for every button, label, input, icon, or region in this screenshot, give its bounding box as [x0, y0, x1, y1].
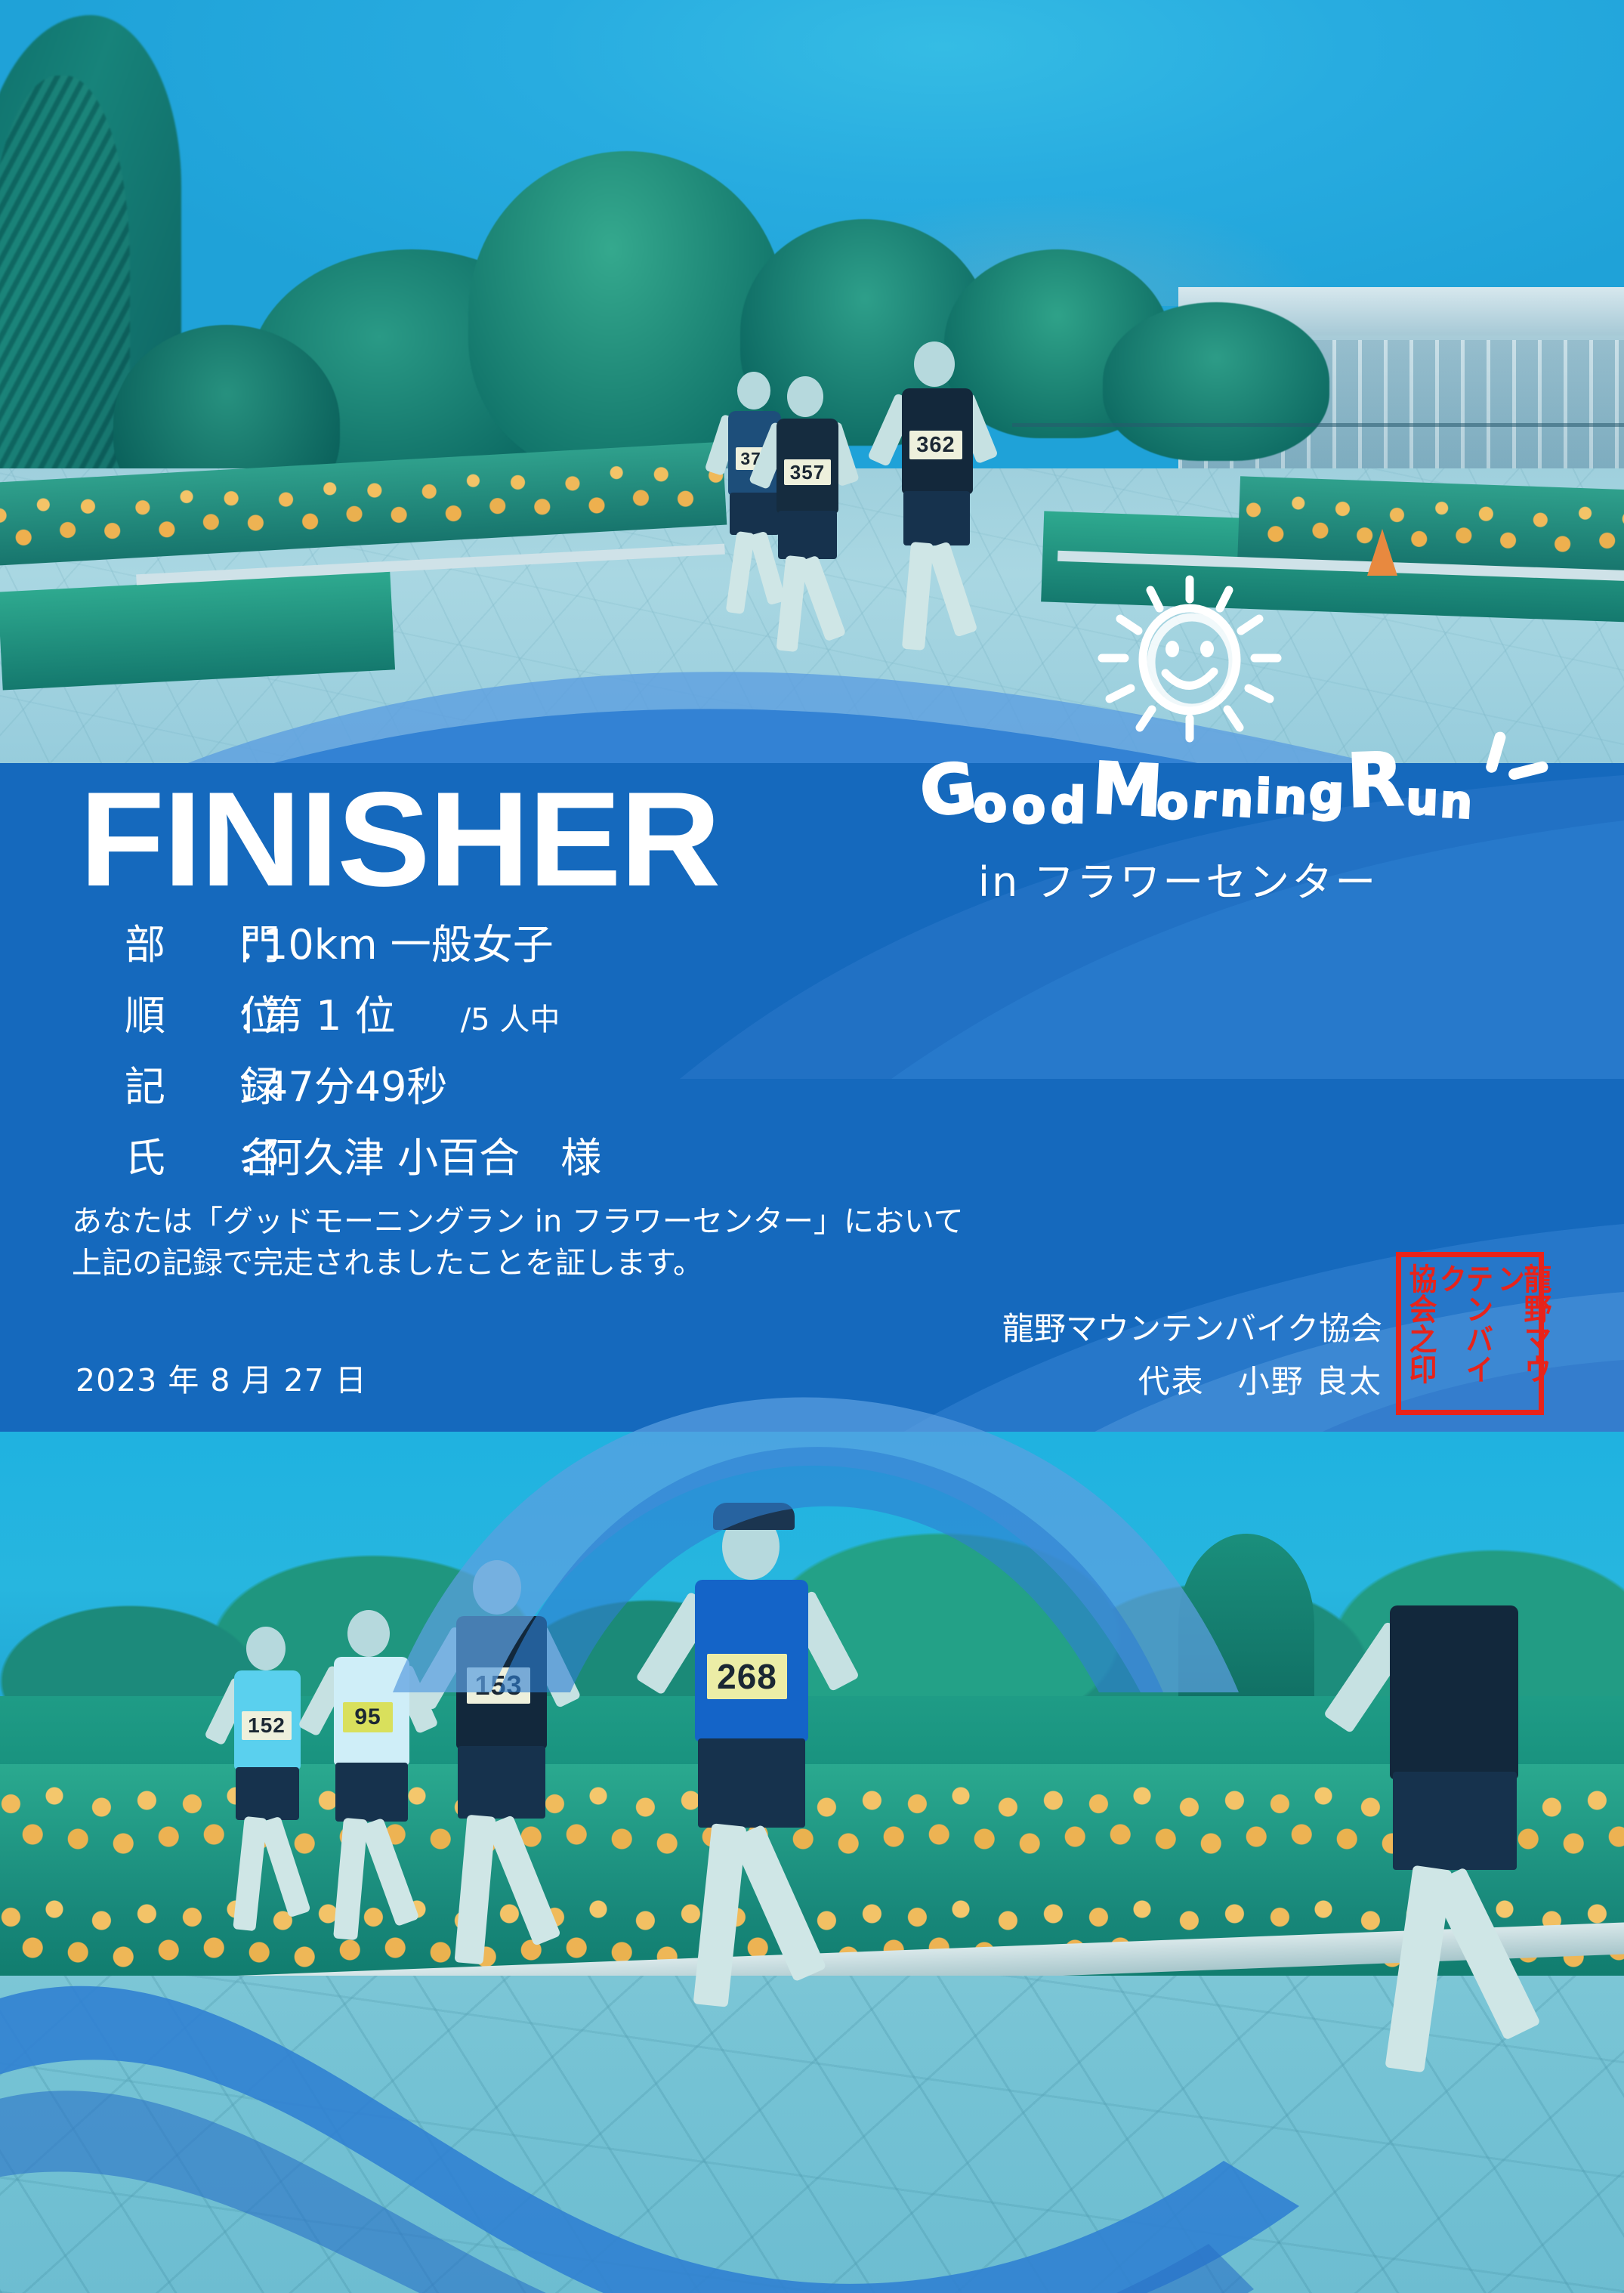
logo-subtitle-venue: フラワーセンター — [1033, 858, 1378, 906]
seal-column-3: 協会之印 — [1406, 1263, 1434, 1404]
detail-label: 記 録 — [125, 1067, 236, 1108]
detail-colon: ： — [236, 1138, 262, 1179]
detail-participant-count: /5 人中 — [461, 1003, 560, 1037]
fence-rail — [1012, 423, 1624, 427]
bib-number: 152 — [242, 1711, 292, 1740]
bib-number: 153 — [467, 1667, 530, 1704]
svg-text:n: n — [1273, 769, 1309, 825]
grass-strip — [0, 571, 395, 690]
tree — [1103, 302, 1329, 461]
detail-value: 阿久津 小百合 様 — [262, 1134, 601, 1182]
event-logo: G o o d M o r n i n g R u n — [827, 563, 1582, 895]
logo-subtitle: inフラワーセンター — [978, 848, 1378, 908]
detail-value: 47分49秒 — [262, 1063, 447, 1111]
certificate-page: 378 357 362 — [0, 0, 1624, 2293]
detail-value: 第 1 位 — [262, 992, 396, 1040]
seal-char: テンバイク — [1437, 1263, 1490, 1404]
svg-text:r: r — [1190, 774, 1218, 830]
detail-label: 氏 名 — [125, 1138, 236, 1179]
seal-column-2: テンバイク — [1434, 1263, 1493, 1404]
seal-column-1: 龍野マウン — [1493, 1263, 1551, 1404]
seal-char: 協会之印 — [1407, 1263, 1434, 1384]
detail-colon: ： — [236, 1067, 262, 1108]
page-title: FINISHER — [79, 772, 719, 907]
detail-row-rank: 順 位：第 1 位/5 人中 — [125, 996, 560, 1037]
logo-subtitle-in: in — [978, 858, 1020, 906]
detail-colon: ： — [236, 925, 262, 966]
official-seal: 龍野マウン テンバイク 協会之印 — [1396, 1252, 1544, 1415]
bib-number: 362 — [909, 431, 962, 459]
bib-number: 357 — [784, 459, 831, 485]
svg-text:d: d — [1050, 777, 1086, 833]
plaza-pavement — [0, 1976, 1624, 2293]
detail-label: 部 門 — [125, 925, 236, 966]
svg-text:g: g — [1308, 764, 1345, 823]
cap — [713, 1503, 795, 1530]
svg-text:u: u — [1405, 773, 1439, 826]
svg-text:o: o — [1156, 775, 1190, 830]
bottom-photo: 152 95 153 — [0, 1432, 1624, 2293]
issuer-organization: 龍野マウンテンバイク協会 — [959, 1303, 1382, 1349]
seal-char: 龍野マウン — [1495, 1263, 1548, 1404]
detail-row-name: 氏 名：阿久津 小百合 様 — [125, 1138, 601, 1179]
detail-label: 順 位 — [125, 996, 236, 1037]
svg-text:R: R — [1345, 737, 1405, 824]
svg-text:i: i — [1255, 769, 1273, 824]
svg-text:o: o — [971, 774, 1008, 833]
svg-text:n: n — [1219, 772, 1255, 828]
issuer-representative: 代表 小野 良太 — [959, 1356, 1382, 1402]
certification-statement: あなたは「グッドモーニングラン in フラワーセンター」において 上記の記録で完… — [72, 1201, 964, 1284]
bib-number: 268 — [707, 1654, 787, 1699]
svg-text:n: n — [1439, 776, 1474, 830]
detail-row-time: 記 録：47分49秒 — [125, 1067, 447, 1108]
detail-value: 10km 一般女子 — [262, 921, 554, 969]
bib-number: 95 — [343, 1702, 393, 1732]
sun-doodle-icon — [1076, 563, 1303, 752]
detail-colon: ： — [236, 996, 262, 1037]
svg-text:o: o — [1011, 777, 1047, 833]
svg-text:M: M — [1090, 747, 1164, 833]
detail-row-category: 部 門：10km 一般女子 — [125, 925, 554, 966]
certification-date: 2023 年 8 月 27 日 — [76, 1355, 367, 1400]
logo-wordmark: G o o d M o r n i n g R u n — [895, 728, 1575, 833]
svg-text:G: G — [915, 748, 980, 833]
